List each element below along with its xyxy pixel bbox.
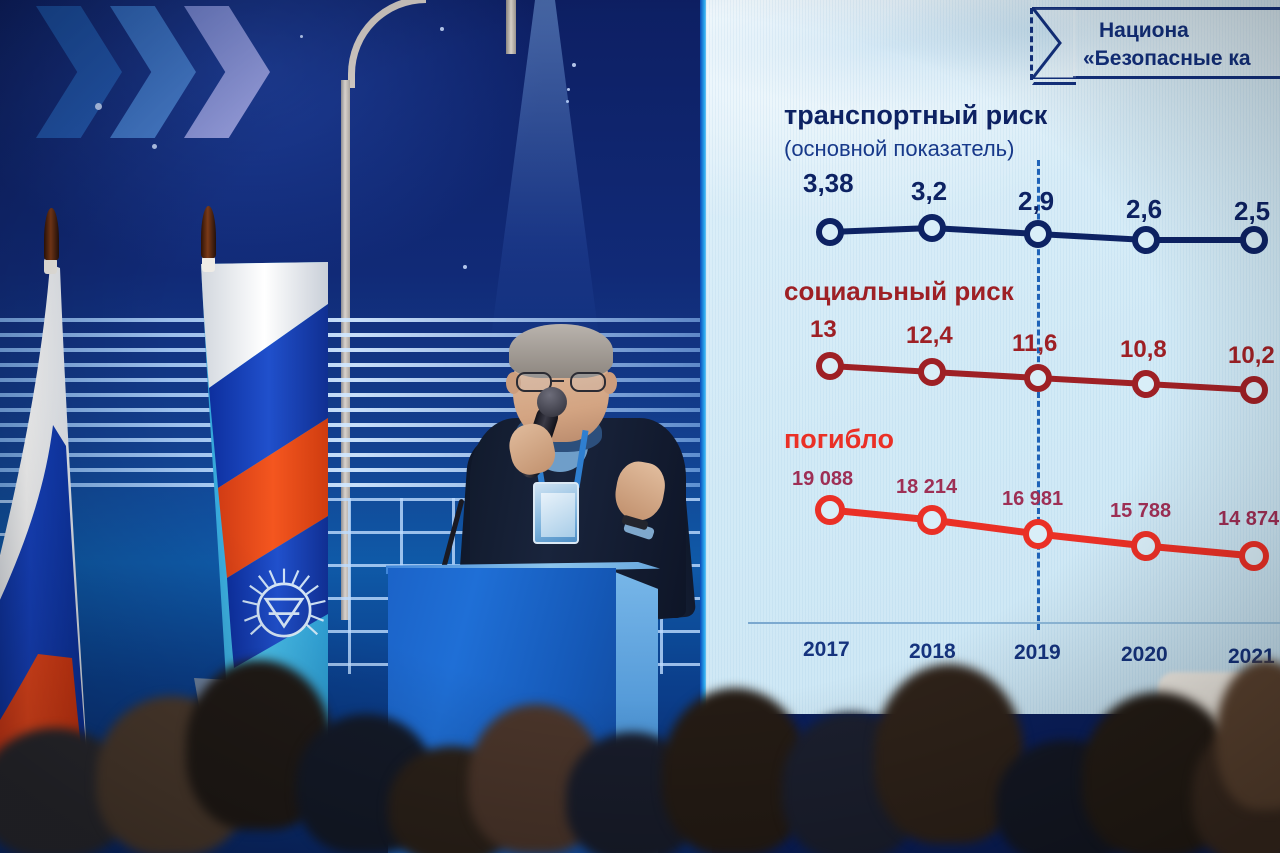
banner-line-2: «Безопасные ка: [1083, 44, 1251, 74]
data-label-transport-2017: 3,38: [803, 168, 854, 199]
slide-banner: Национа «Безопасные ка: [1073, 7, 1280, 79]
presentation-screen: транспортный риск (основной показатель): [706, 0, 1280, 714]
data-label-social-2019: 11,6: [1012, 330, 1057, 358]
audience-heads: [0, 640, 1280, 853]
speck: [300, 35, 303, 38]
speck: [152, 144, 157, 149]
speck: [463, 265, 467, 269]
speck: [95, 103, 102, 110]
data-label-deaths-2020: 15 788: [1110, 500, 1171, 523]
speaker-hair: [509, 324, 613, 378]
speck: [440, 27, 444, 31]
conference-badge: [533, 482, 579, 544]
presentation-photo: транспортный риск (основной показатель): [0, 0, 1280, 853]
data-label-transport-2019: 2,9: [1018, 186, 1054, 217]
data-label-deaths-2018: 18 214: [896, 476, 957, 499]
flag-staff-knob: [44, 258, 57, 274]
speck: [567, 88, 570, 91]
banner-line-1: Национа: [1099, 16, 1189, 46]
chevron-1: [36, 6, 122, 138]
chevron-3: [184, 6, 270, 138]
speck: [572, 63, 576, 67]
data-label-transport-2018: 3,2: [911, 176, 947, 207]
series-title-deaths: погибло: [784, 424, 894, 455]
bridge-pylon: [506, 0, 516, 54]
banner-chevron-notch: [1032, 7, 1076, 79]
triple-chevron-logo: [36, 6, 296, 138]
flag-staff-knob: [202, 256, 215, 272]
light-beam: [420, 0, 670, 345]
data-label-deaths-2021: 14 874: [1218, 508, 1279, 531]
data-label-deaths-2019: 16 981: [1002, 488, 1063, 511]
chart-x-axis: [748, 622, 1280, 624]
data-label-deaths-2017: 19 088: [792, 468, 853, 491]
street-lamp-arm: [348, 0, 426, 88]
series-title-social-risk: социальный риск: [784, 276, 1014, 307]
chevron-2: [110, 6, 196, 138]
data-label-transport-2020: 2,6: [1126, 194, 1162, 225]
data-label-social-2017: 13: [810, 316, 837, 344]
data-label-social-2021: 10,2: [1228, 342, 1275, 370]
data-label-social-2018: 12,4: [906, 322, 953, 350]
chart-lines: [706, 0, 1280, 714]
data-label-transport-2021: 2,5: [1234, 196, 1270, 227]
banner-dashed-edge: [1030, 8, 1033, 80]
data-label-social-2020: 10,8: [1120, 336, 1167, 364]
slide-chart: транспортный риск (основной показатель): [706, 0, 1280, 714]
